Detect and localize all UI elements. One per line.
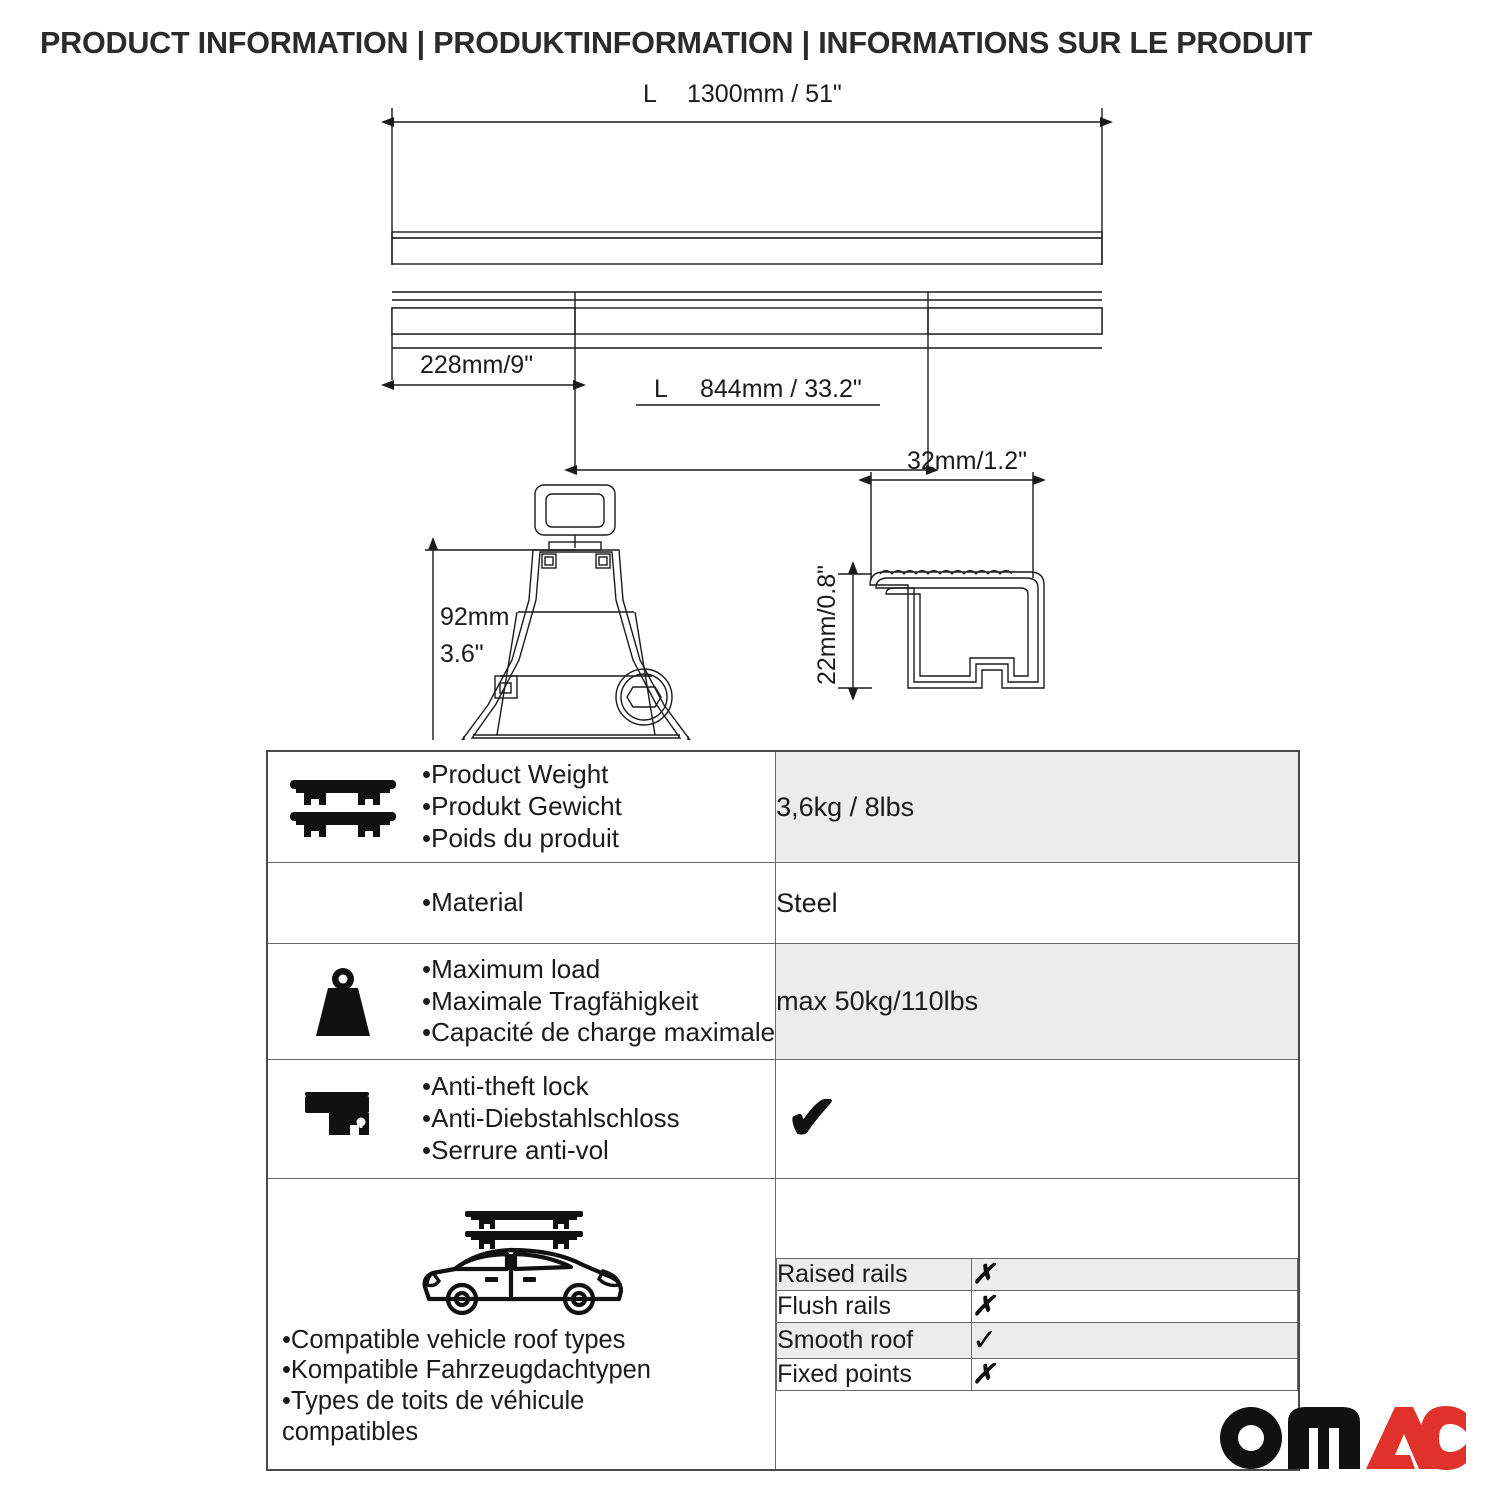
label-line: •Material <box>422 887 524 919</box>
cross-icon: ✗ <box>972 1259 995 1289</box>
roof-type-name: Fixed points <box>777 1358 972 1390</box>
compatibility-label-text: •Compatible vehicle roof types •Kompatib… <box>268 1319 775 1447</box>
check-icon: ✓ <box>972 1324 997 1357</box>
label-line: •Anti-Diebstahlschloss <box>422 1103 680 1135</box>
table-row: •Maximum load •Maximale Tragfähigkeit •C… <box>267 944 1299 1060</box>
roof-type-row: Flush rails ✗ <box>777 1290 1298 1322</box>
spec-label-text: •Maximum load •Maximale Tragfähigkeit •C… <box>422 954 775 1049</box>
foot-height-line1: 92mm <box>440 603 509 631</box>
label-line: •Serrure anti-vol <box>422 1135 680 1167</box>
roof-type-mark: ✗ <box>972 1358 1298 1390</box>
weight-icon <box>268 966 418 1038</box>
span-prefix: L <box>654 375 668 403</box>
roof-type-mark: ✓ <box>972 1322 1298 1358</box>
label-line: compatibles <box>282 1417 775 1448</box>
label-line: •Kompatible Fahrzeugdachtypen <box>282 1355 775 1386</box>
label-line: •Types de toits de véhicule <box>282 1386 775 1417</box>
span-value: 844mm / 33.2" <box>700 375 862 403</box>
spec-value-material: Steel <box>776 863 1299 944</box>
label-line: •Product Weight <box>422 759 622 791</box>
table-row-compatibility: •Compatible vehicle roof types •Kompatib… <box>267 1179 1299 1471</box>
spec-label-text: •Material <box>422 887 524 919</box>
label-line: •Capacité de charge maximale <box>422 1017 775 1049</box>
roof-type-name: Raised rails <box>777 1258 972 1290</box>
foot-offset-value: 228mm/9" <box>420 351 533 379</box>
roof-type-row: Fixed points ✗ <box>777 1358 1298 1390</box>
omac-logo <box>1214 1398 1466 1472</box>
profile-height-value: 22mm/0.8" <box>813 565 841 685</box>
label-line: •Maximum load <box>422 954 775 986</box>
crossbars-icon <box>268 776 418 838</box>
table-row: •Material Steel <box>267 863 1299 944</box>
spec-label-text: •Product Weight •Produkt Gewicht •Poids … <box>422 759 622 854</box>
spec-label-cell: •Product Weight •Produkt Gewicht •Poids … <box>267 751 776 863</box>
spec-label-cell: •Anti-theft lock •Anti-Diebstahlschloss … <box>267 1060 776 1179</box>
compatibility-label-cell: •Compatible vehicle roof types •Kompatib… <box>267 1179 776 1471</box>
table-row: •Product Weight •Produkt Gewicht •Poids … <box>267 751 1299 863</box>
lock-icon <box>268 1090 418 1148</box>
omac-logo-svg <box>1214 1398 1466 1472</box>
roof-type-name: Flush rails <box>777 1290 972 1322</box>
label-line: •Compatible vehicle roof types <box>282 1325 775 1356</box>
cross-icon: ✗ <box>972 1291 995 1321</box>
label-line: •Produkt Gewicht <box>422 791 622 823</box>
spec-value-weight: 3,6kg / 8lbs <box>776 751 1299 863</box>
spec-label-cell: •Material <box>267 863 776 944</box>
car-with-rack-icon <box>268 1201 775 1319</box>
check-mark-icon: ✔ <box>776 1088 1298 1150</box>
label-line: •Maximale Tragfähigkeit <box>422 986 775 1018</box>
bar-length-prefix: L <box>643 80 657 108</box>
profile-width-value: 32mm/1.2" <box>907 447 1027 475</box>
label-line: •Anti-theft lock <box>422 1071 680 1103</box>
page-title: PRODUCT INFORMATION | PRODUKTINFORMATION… <box>40 26 1312 61</box>
cross-icon: ✗ <box>972 1359 995 1389</box>
roof-type-mark: ✗ <box>972 1290 1298 1322</box>
roof-type-mark: ✗ <box>972 1258 1298 1290</box>
roof-types-table: Raised rails ✗ Flush rails ✗ <box>776 1258 1298 1391</box>
spec-value-max-load: max 50kg/110lbs <box>776 944 1299 1060</box>
product-spec-table: •Product Weight •Produkt Gewicht •Poids … <box>266 750 1300 1471</box>
roof-type-row: Smooth roof ✓ <box>777 1322 1298 1358</box>
spec-label-text: •Anti-theft lock •Anti-Diebstahlschloss … <box>422 1071 680 1166</box>
roof-type-name: Smooth roof <box>777 1322 972 1358</box>
spec-value-anti-theft: ✔ <box>776 1060 1299 1179</box>
label-line: •Poids du produit <box>422 823 622 855</box>
roof-type-row: Raised rails ✗ <box>777 1258 1298 1290</box>
foot-height-line2: 3.6" <box>440 640 484 668</box>
bar-length-value: 1300mm / 51" <box>687 80 842 108</box>
spec-label-cell: •Maximum load •Maximale Tragfähigkeit •C… <box>267 944 776 1060</box>
technical-drawings: L 1300mm / 51" 228mm/9" L 844mm / 33.2" … <box>0 80 1500 740</box>
table-row: •Anti-theft lock •Anti-Diebstahlschloss … <box>267 1060 1299 1179</box>
